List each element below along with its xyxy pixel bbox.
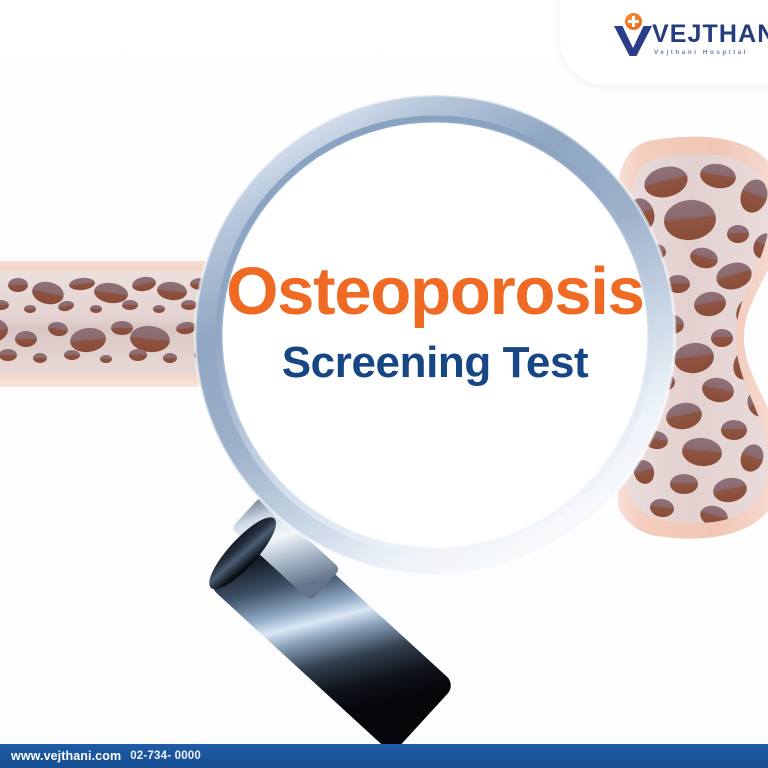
bone-illustration-left [0,243,232,406]
page-title: Osteoporosis [226,258,643,325]
horizontal-bone-cross-section-icon [0,243,232,406]
footer-bar: www.vejthani.com 02-734- 0000 [0,744,768,768]
footer-website[interactable]: www.vejthani.com [11,749,121,763]
brand-logo[interactable]: VEJTHANI Vejthani Hospital [612,8,758,58]
footer-phone[interactable]: 02-734- 0000 [130,750,201,762]
brand-wordmark: VEJTHANI Vejthani Hospital [652,22,768,58]
brand-name: VEJTHANI [652,22,768,47]
page-subtitle: Screening Test [282,341,589,385]
osteoporosis-screening-poster: Osteoporosis Screening Test [0,0,768,768]
v-shape-icon [614,26,652,56]
headline-block: Osteoporosis Screening Test [214,114,656,556]
brand-tagline: Vejthani Hospital [654,50,768,56]
vejthani-v-mark-icon [612,12,654,58]
